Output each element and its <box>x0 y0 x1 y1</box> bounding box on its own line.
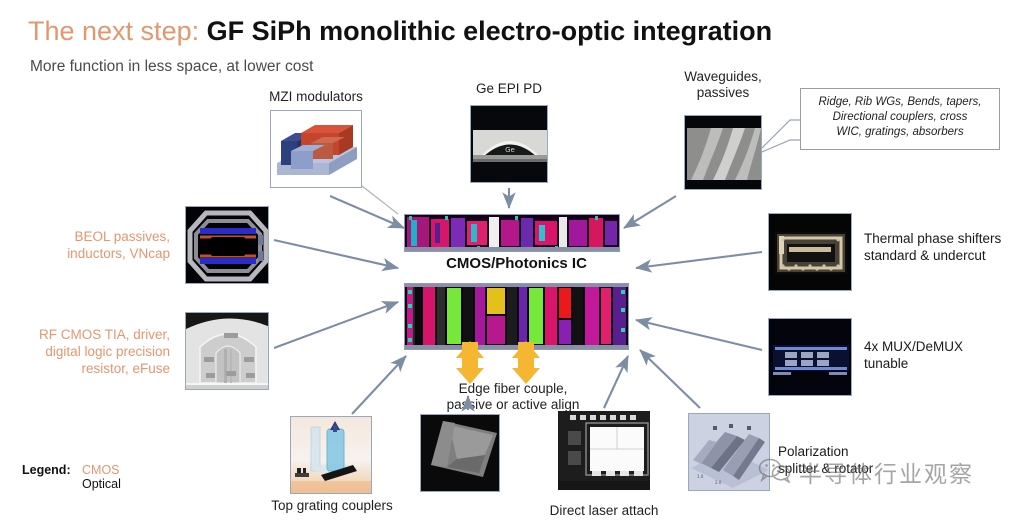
thumbnail-edge-fiber-sem <box>420 414 500 492</box>
center-ic-label: CMOS/Photonics IC <box>404 255 629 272</box>
yellow-arrow-right <box>511 341 541 377</box>
thumbnail-thermal-phase-shifters <box>768 213 852 291</box>
legend: Legend:CMOS Optical <box>22 463 121 491</box>
watermark: 半导体行业观察 <box>758 455 974 489</box>
thumbnail-waveguides <box>684 115 762 190</box>
thumbnail-cmos-photonics-ic-bottom <box>404 283 629 350</box>
legend-title: Legend: <box>22 463 82 477</box>
svg-text:2.0: 2.0 <box>715 480 722 485</box>
caption-mux-demux: 4x MUX/DeMUX tunable <box>864 338 1014 372</box>
page-subtitle: More function in less space, at lower co… <box>30 58 313 76</box>
legend-item-optical: Optical <box>82 477 121 491</box>
page-title: The next step: GF SiPh monolithic electr… <box>28 14 772 48</box>
caption-mzi-modulators: MZI modulators <box>236 89 396 105</box>
title-accent: The next step: <box>28 16 199 46</box>
thumbnail-direct-laser-attach <box>558 411 650 490</box>
thumbnail-beol-passives <box>185 206 269 284</box>
caption-thermal-phase-shifters: Thermal phase shifters standard & underc… <box>864 230 1024 264</box>
title-main: GF SiPh monolithic electro-optic integra… <box>207 16 773 46</box>
caption-top-grating-couplers: Top grating couplers <box>244 498 420 514</box>
waveguides-callout-box: Ridge, Rib WGs, Bends, tapers, Direction… <box>800 88 1000 150</box>
wechat-icon <box>758 457 792 488</box>
thumbnail-ge-epi-pd: Ge <box>470 105 548 183</box>
caption-edge-fiber-couple: Edge fiber couple, passive or active ali… <box>398 381 628 413</box>
svg-text:1.0: 1.0 <box>697 474 704 479</box>
watermark-text: 半导体行业观察 <box>799 455 974 489</box>
caption-rf-cmos: RF CMOS TIA, driver, digital logic preci… <box>0 326 170 377</box>
thumbnail-cmos-photonics-ic-top <box>404 214 620 252</box>
thumbnail-rf-cmos <box>185 312 269 390</box>
caption-waveguides: Waveguides, passives <box>655 69 791 101</box>
callout-text: Ridge, Rib WGs, Bends, tapers, Direction… <box>801 89 999 140</box>
legend-item-cmos: CMOS <box>82 463 120 477</box>
svg-text:Ge: Ge <box>505 146 515 154</box>
caption-ge-epi-pd: Ge EPI PD <box>439 81 579 97</box>
thumbnail-mzi-modulators <box>270 110 362 188</box>
thumbnail-mux-demux <box>768 318 852 396</box>
thumbnail-top-grating-couplers <box>290 416 372 494</box>
caption-direct-laser-attach: Direct laser attach <box>524 503 684 519</box>
caption-beol-passives: BEOL passives, inductors, VNcap <box>10 228 170 262</box>
yellow-arrow-left <box>455 341 485 377</box>
